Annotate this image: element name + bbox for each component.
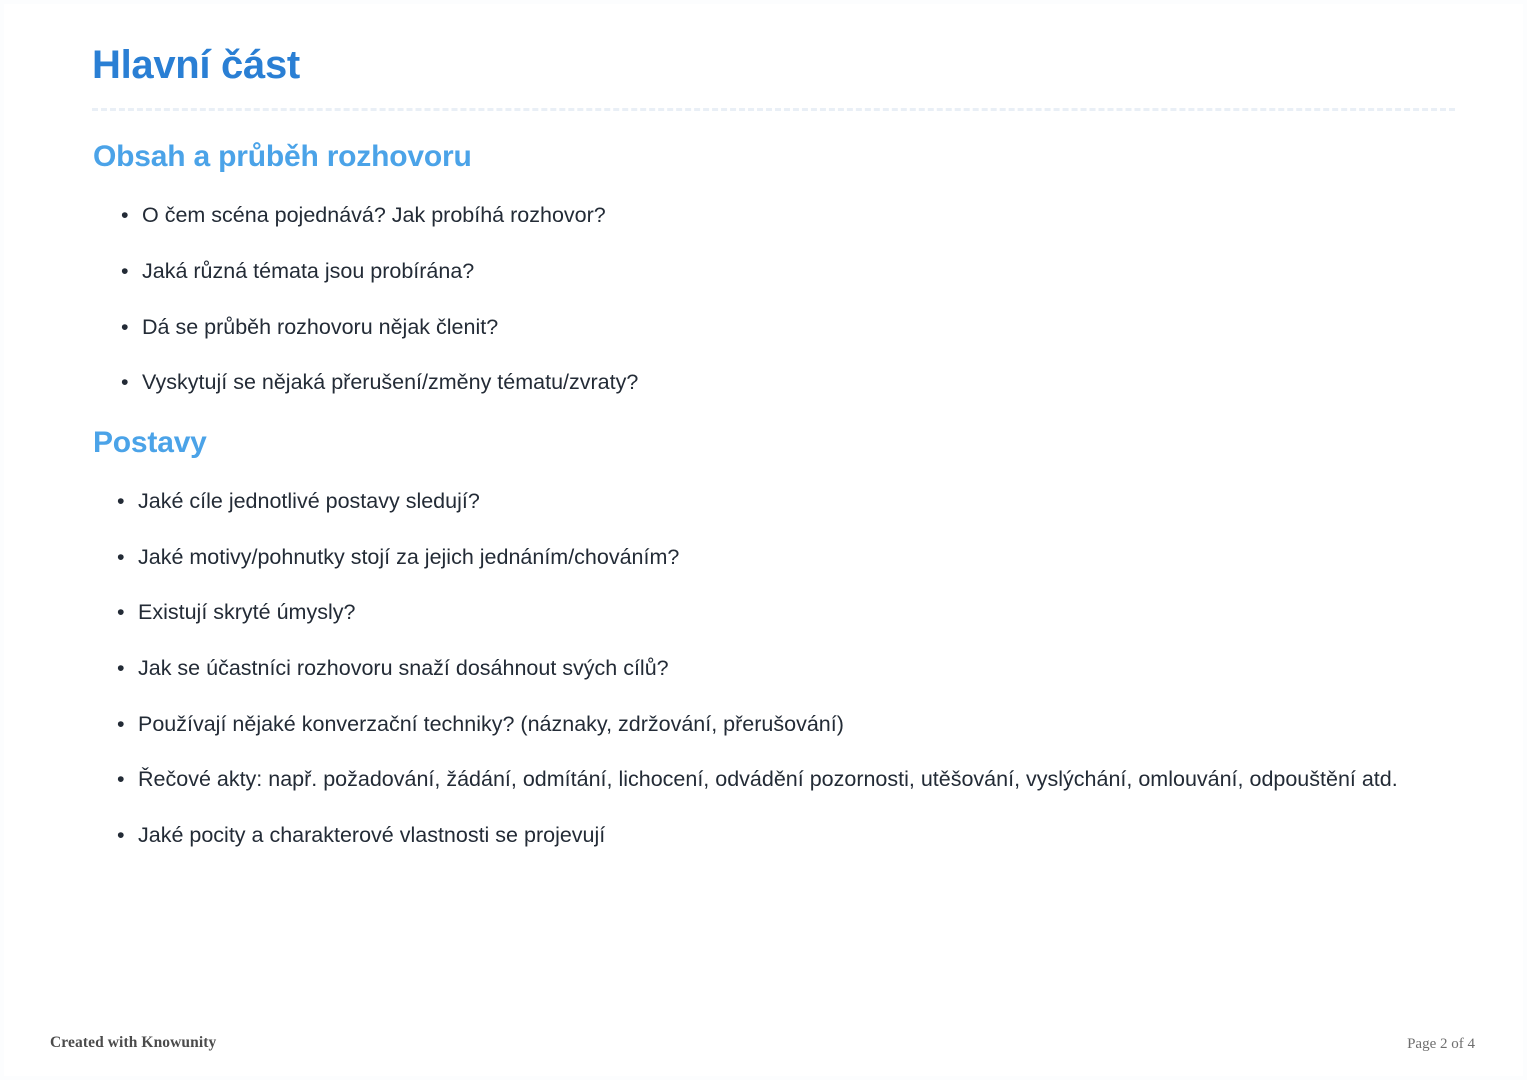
list-item: Existují skryté úmysly? <box>117 596 1457 629</box>
document-page: Hlavní část Obsah a průběh rozhovoru O č… <box>0 0 1527 1080</box>
page-title: Hlavní část <box>92 42 1457 108</box>
page-content: Hlavní část Obsah a průběh rozhovoru O č… <box>92 42 1457 852</box>
page-footer: Created with Knowunity Page 2 of 4 <box>0 1034 1527 1058</box>
section-heading-obsah: Obsah a průběh rozhovoru <box>92 111 1457 175</box>
list-item: Používají nějaké konverzační techniky? (… <box>117 708 1457 741</box>
list-item: Dá se průběh rozhovoru nějak členit? <box>121 311 1457 344</box>
list-item: Vyskytují se nějaká přerušení/změny téma… <box>121 366 1457 399</box>
list-item: Jaké motivy/pohnutky stojí za jejich jed… <box>117 541 1457 574</box>
list-item: Jaká různá témata jsou probírána? <box>121 255 1457 288</box>
list-item: O čem scéna pojednává? Jak probíhá rozho… <box>121 199 1457 232</box>
list-item: Jak se účastníci rozhovoru snaží dosáhno… <box>117 652 1457 685</box>
list-item: Jaké pocity a charakterové vlastnosti se… <box>117 819 1457 852</box>
list-item: Řečové akty: např. požadování, žádání, o… <box>117 763 1428 796</box>
bullet-list-obsah: O čem scéna pojednává? Jak probíhá rozho… <box>92 175 1457 399</box>
page-number: Page 2 of 4 <box>1407 1036 1475 1053</box>
footer-credit: Created with Knowunity <box>50 1034 216 1052</box>
section-heading-postavy: Postavy <box>92 399 1457 461</box>
section-obsah-a-prubeh-rozhovoru: Obsah a průběh rozhovoru O čem scéna poj… <box>92 111 1457 399</box>
bullet-list-postavy: Jaké cíle jednotlivé postavy sledují? Ja… <box>92 461 1457 852</box>
section-postavy: Postavy Jaké cíle jednotlivé postavy sle… <box>92 399 1457 852</box>
list-item: Jaké cíle jednotlivé postavy sledují? <box>117 485 1457 518</box>
